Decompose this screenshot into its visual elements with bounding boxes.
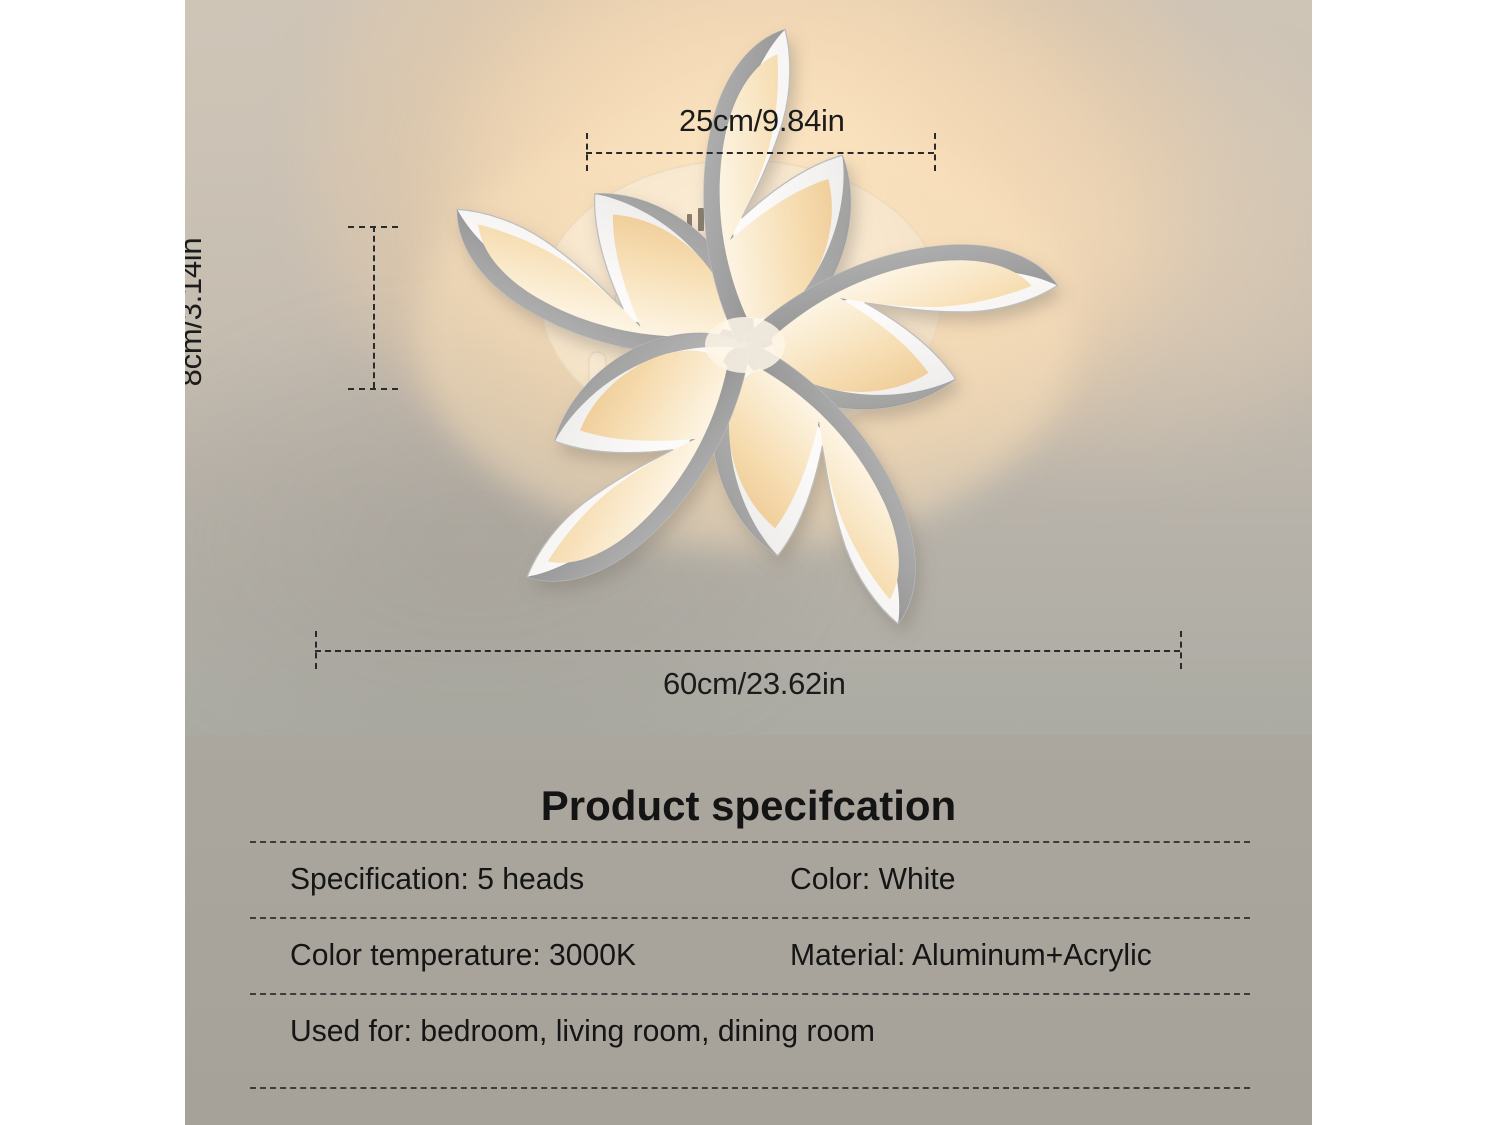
specification-title: Product specifcation — [185, 782, 1312, 830]
dimension-line-depth — [586, 152, 934, 154]
dimension-label-depth: 25cm/9.84in — [679, 103, 845, 139]
dimension-tick-width-right — [1180, 631, 1182, 669]
dimension-line-height — [373, 226, 375, 388]
spec-divider-bottom — [250, 1087, 1250, 1089]
specification-section: Product specifcation Specification: 5 he… — [185, 735, 1312, 1125]
spec-cell-material: Material: Aluminum+Acrylic — [790, 917, 1152, 993]
dimension-tick-height-bottom — [348, 388, 398, 390]
spec-cell-specification: Specification: 5 heads — [290, 841, 584, 917]
dimension-label-width: 60cm/23.62in — [663, 666, 846, 702]
dimension-tick-height-top — [348, 226, 398, 228]
product-photo: 25cm/9.84in 8cm/3.14in 60cm/23.62in — [185, 0, 1312, 735]
dimension-tick-depth-right — [934, 133, 936, 171]
dimension-tick-depth-left — [586, 133, 588, 171]
dimension-label-height: 8cm/3.14in — [185, 212, 209, 412]
dimension-tick-width-left — [315, 631, 317, 669]
dimension-line-width — [315, 650, 1180, 652]
spec-cell-color-temperature: Color temperature: 3000K — [290, 917, 636, 993]
product-image-page: 25cm/9.84in 8cm/3.14in 60cm/23.62in Prod… — [0, 0, 1500, 1125]
image-content-area: 25cm/9.84in 8cm/3.14in 60cm/23.62in Prod… — [185, 0, 1312, 1125]
spec-cell-color: Color: White — [790, 841, 955, 917]
spec-row-1: Specification: 5 heads Color: White — [185, 841, 1312, 917]
spec-row-2: Color temperature: 3000K Material: Alumi… — [185, 917, 1312, 993]
spec-row-3: Used for: bedroom, living room, dining r… — [185, 993, 1312, 1069]
spec-cell-used-for: Used for: bedroom, living room, dining r… — [290, 993, 875, 1069]
